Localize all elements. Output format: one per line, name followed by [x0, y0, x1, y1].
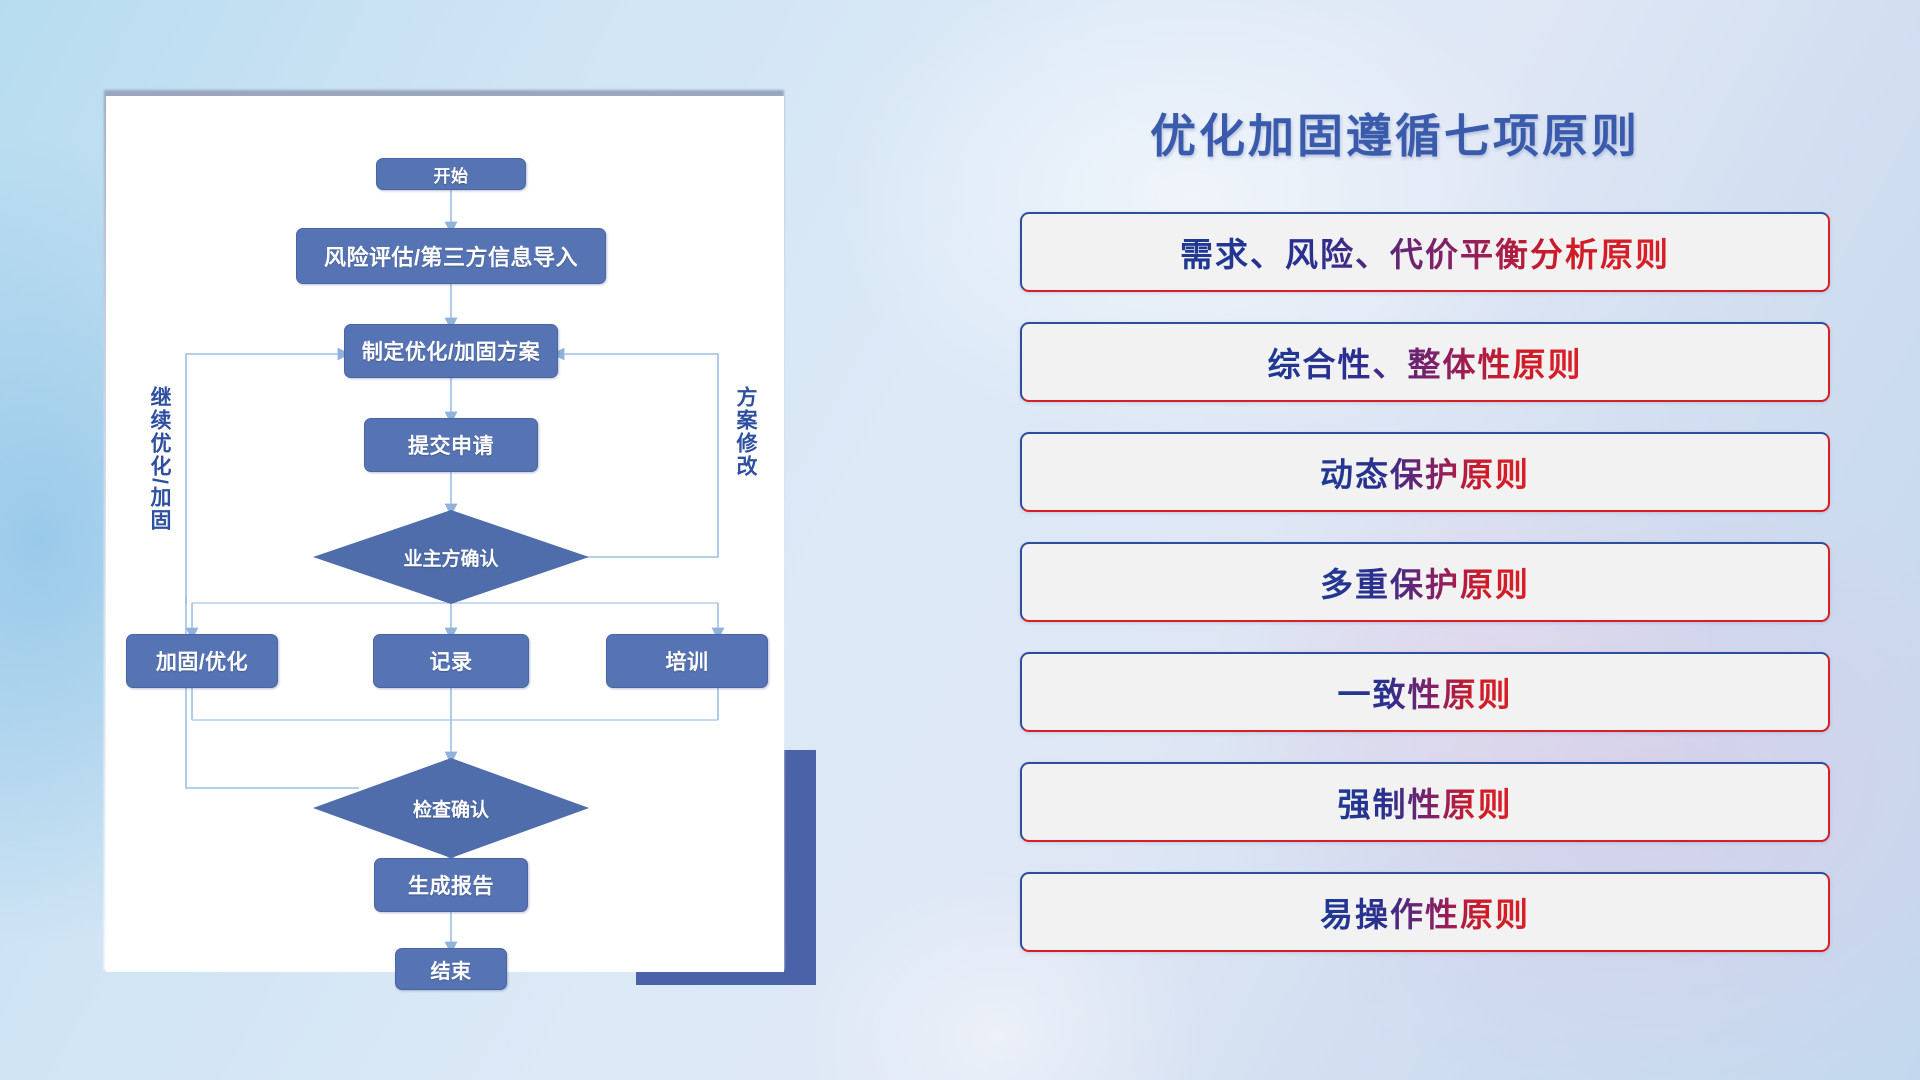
principle-card-2-label: 综合性、整体性原则	[1268, 338, 1583, 386]
flow-node-report[interactable]: 生成报告	[374, 858, 528, 912]
flow-decision-owner-confirm[interactable]: 业主方确认	[313, 510, 589, 604]
flow-node-submit-label: 提交申请	[408, 430, 494, 460]
flow-node-plan[interactable]: 制定优化/加固方案	[344, 324, 558, 378]
flow-decision-check-confirm-label: 检查确认	[413, 795, 489, 822]
flow-node-training-label: 培训	[666, 646, 709, 676]
flow-node-submit[interactable]: 提交申请	[364, 418, 538, 472]
flow-decision-check-confirm[interactable]: 检查确认	[313, 758, 589, 858]
principles-title: 优化加固遵循七项原则	[1150, 100, 1830, 166]
principle-card-5[interactable]: 一致性原则	[1020, 652, 1830, 732]
principle-card-4[interactable]: 多重保护原则	[1020, 542, 1830, 622]
principle-card-1-label: 需求、风险、代价平衡分析原则	[1180, 228, 1670, 276]
flowchart-panel: 开始 风险评估/第三方信息导入 制定优化/加固方案 提交申请 业主方确认 加固/…	[106, 96, 784, 972]
flow-node-start-label: 开始	[434, 162, 469, 187]
principle-card-6-label: 强制性原则	[1338, 778, 1513, 826]
flow-node-plan-label: 制定优化/加固方案	[362, 336, 540, 366]
flow-edge-label-continue-optimize: 继续优化/加固	[148, 386, 170, 556]
flow-node-reinforce-label: 加固/优化	[156, 646, 248, 676]
flow-node-reinforce[interactable]: 加固/优化	[126, 634, 278, 688]
principle-card-2[interactable]: 综合性、整体性原则	[1020, 322, 1830, 402]
flow-node-training[interactable]: 培训	[606, 634, 768, 688]
principles-panel: 优化加固遵循七项原则 需求、风险、代价平衡分析原则 综合性、整体性原则 动态保护…	[1020, 100, 1830, 982]
principle-card-3[interactable]: 动态保护原则	[1020, 432, 1830, 512]
principle-card-6[interactable]: 强制性原则	[1020, 762, 1830, 842]
flow-decision-owner-confirm-label: 业主方确认	[403, 544, 498, 571]
flow-node-record[interactable]: 记录	[373, 634, 529, 688]
principle-card-1[interactable]: 需求、风险、代价平衡分析原则	[1020, 212, 1830, 292]
flow-node-start[interactable]: 开始	[376, 158, 526, 190]
flow-node-risk-assessment-label: 风险评估/第三方信息导入	[324, 240, 578, 272]
principle-card-5-label: 一致性原则	[1338, 668, 1513, 716]
flow-edge-label-plan-revision: 方案修改	[734, 386, 756, 526]
flow-node-risk-assessment[interactable]: 风险评估/第三方信息导入	[296, 228, 606, 284]
principle-card-3-label: 动态保护原则	[1320, 448, 1530, 496]
flow-node-end-label: 结束	[431, 955, 472, 984]
principle-card-7-label: 易操作性原则	[1320, 888, 1530, 936]
principle-card-7[interactable]: 易操作性原则	[1020, 872, 1830, 952]
flow-node-record-label: 记录	[430, 646, 473, 676]
flow-node-end[interactable]: 结束	[395, 948, 507, 990]
flow-node-report-label: 生成报告	[408, 870, 494, 900]
principle-card-4-label: 多重保护原则	[1320, 558, 1530, 606]
